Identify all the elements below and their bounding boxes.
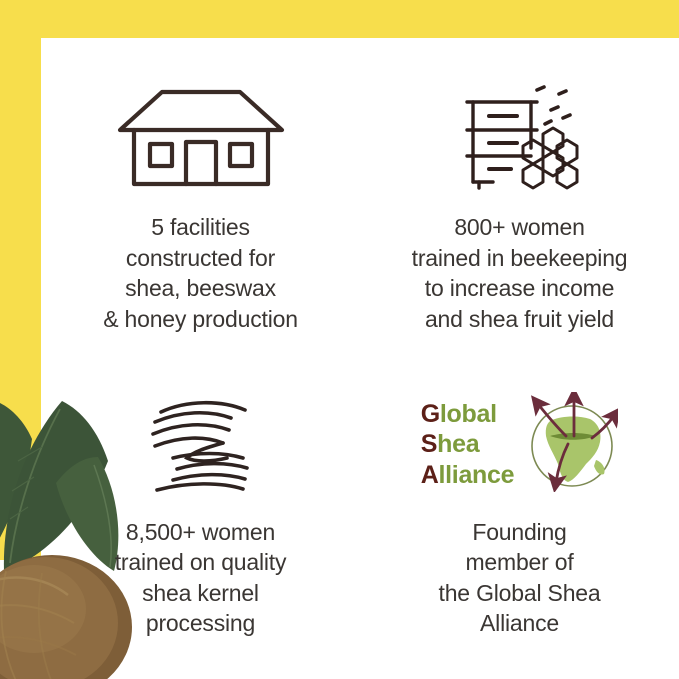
gsa-initial-g: G [421,400,440,428]
gsa-initial-a: A [421,461,439,489]
stat-text-beekeeping: 800+ women trained in beekeeping to incr… [412,212,628,334]
gsa-globe-icon [516,392,618,497]
gsa-initial-s: S [421,430,437,458]
stat-text-alliance: Founding member of the Global Shea Allia… [439,517,601,639]
gsa-rest-hea: hea [437,430,479,458]
gsa-line-global: Global [421,399,515,430]
stat-text-facilities: 5 facilities constructed for shea, beesw… [103,212,298,334]
stat-cell-alliance: Global Shea Alliance [360,359,679,679]
hands-icon [143,387,259,503]
gsa-wordmark: Global Shea Alliance [421,399,515,491]
stat-cell-facilities: 5 facilities constructed for shea, beesw… [41,38,360,359]
stat-text-kernel-processing: 8,500+ women trained on quality shea ker… [115,517,287,639]
stat-cell-kernel-processing: 8,500+ women trained on quality shea ker… [41,359,360,679]
gsa-rest-lobal: lobal [440,400,497,428]
stats-grid: 5 facilities constructed for shea, beesw… [41,38,679,679]
gsa-line-shea: Shea [421,429,515,460]
house-icon [116,78,286,198]
beehive-icon [459,78,581,198]
gsa-rest-lliance: lliance [439,461,515,489]
stat-cell-beekeeping: 800+ women trained in beekeeping to incr… [360,38,679,359]
gsa-line-alliance: Alliance [421,460,515,491]
gsa-logo: Global Shea Alliance [421,387,619,503]
